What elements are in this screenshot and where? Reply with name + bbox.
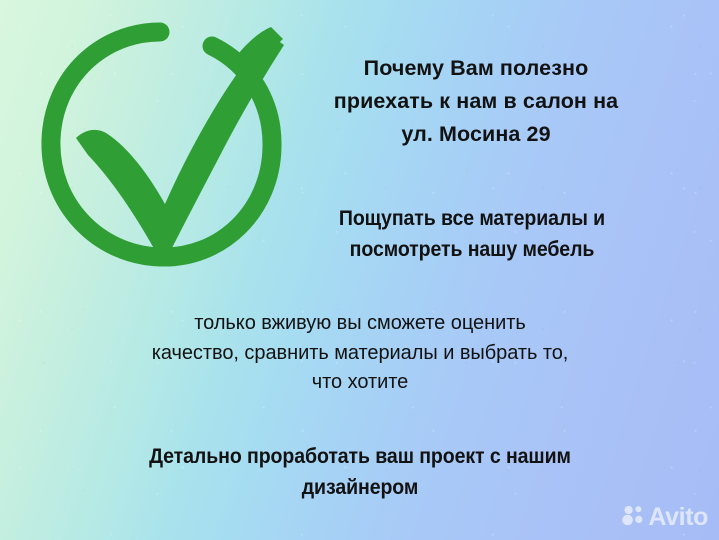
page-title: Почему Вам полезно приехать к нам в сало…	[288, 52, 664, 151]
benefit-2-title: Детально проработать ваш проект с нашим …	[62, 441, 657, 503]
benefit-1-title: Пощупать все материалы и посмотреть нашу…	[286, 203, 658, 265]
green-check-circle-icon	[32, 14, 290, 276]
benefit-1-detail: только вживую вы сможете оценить качеств…	[40, 309, 680, 398]
promo-poster: Почему Вам полезно приехать к нам в сало…	[0, 0, 719, 540]
avito-dots-icon	[622, 504, 644, 531]
avito-watermark: Avito	[622, 504, 708, 531]
avito-wordmark: Avito	[648, 505, 708, 530]
